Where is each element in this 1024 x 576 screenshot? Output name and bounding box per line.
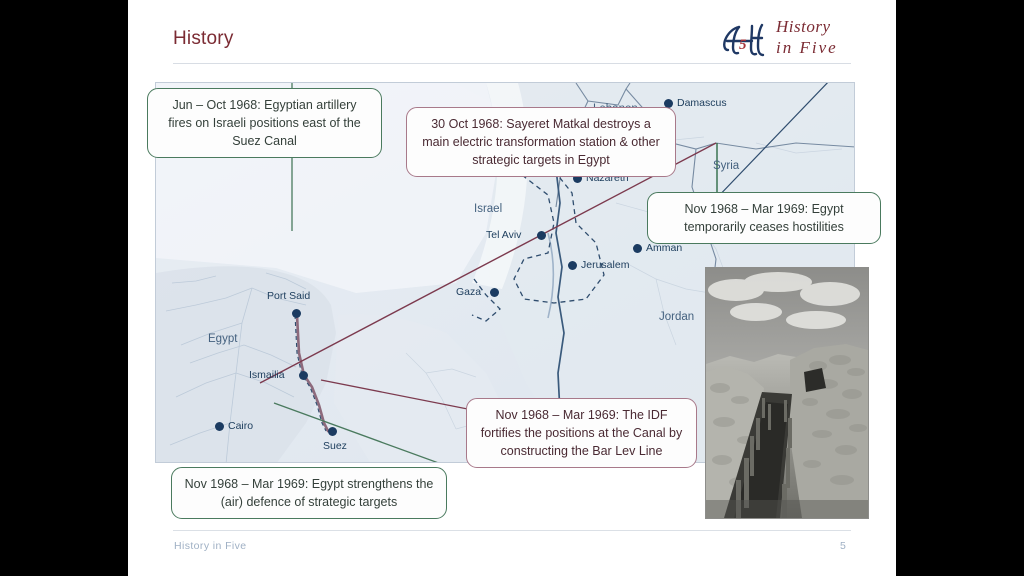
map-dot-cairo	[215, 422, 224, 431]
map-label-suez: Suez	[323, 440, 347, 452]
map-dot-ismailia	[299, 371, 308, 380]
callout-idf-bar-lev-line: Nov 1968 – Mar 1969: The IDF fortifies t…	[466, 398, 697, 468]
map-dot-gaza	[490, 288, 499, 297]
map-region-syria: Syria	[713, 160, 739, 172]
trench-photograph-graphic	[706, 268, 868, 518]
history-in-five-monogram-icon: 5	[718, 16, 778, 60]
map-dot-suez	[328, 427, 337, 436]
callout-egypt-ceases-hostilities: Nov 1968 – Mar 1969: Egypt temporarily c…	[647, 192, 881, 244]
logo-line-1: History	[776, 17, 838, 37]
map-label-gaza: Gaza	[456, 286, 481, 298]
brand-logo: 5 History in Five	[718, 14, 868, 62]
map-dot-port-said	[292, 309, 301, 318]
bar-lev-line-photo	[706, 268, 868, 518]
map-label-damascus: Damascus	[677, 97, 727, 109]
map-label-ismailia: Ismailia	[249, 369, 285, 381]
map-dot-jerusalem	[568, 261, 577, 270]
callout-egypt-air-defence: Nov 1968 – Mar 1969: Egypt strengthens t…	[171, 467, 447, 519]
map-region-israel: Israel	[474, 203, 502, 215]
footer-brand: History in Five	[174, 540, 247, 552]
svg-text:5: 5	[739, 37, 747, 53]
logo-line-2: in Five	[776, 38, 838, 58]
map-label-port-said: Port Said	[267, 290, 310, 302]
map-label-cairo: Cairo	[228, 420, 253, 432]
map-region-egypt: Egypt	[208, 333, 237, 345]
screenshot-letterbox: History 5 History in Five	[0, 0, 1024, 576]
page-title: History	[173, 28, 234, 50]
map-dot-amman	[633, 244, 642, 253]
map-label-jerusalem: Jerusalem	[581, 259, 629, 271]
map-region-jordan: Jordan	[659, 311, 694, 323]
callout-egyptian-artillery: Jun – Oct 1968: Egyptian artillery fires…	[147, 88, 382, 158]
slide-page-number: 5	[840, 540, 846, 552]
presentation-slide: History 5 History in Five	[128, 0, 896, 576]
footer-divider	[173, 530, 851, 531]
callout-sayeret-matkal-raid: 30 Oct 1968: Sayeret Matkal destroys a m…	[406, 107, 676, 177]
map-dot-tel-aviv	[537, 231, 546, 240]
map-label-tel-aviv: Tel Aviv	[486, 229, 521, 241]
header-divider	[173, 63, 851, 64]
